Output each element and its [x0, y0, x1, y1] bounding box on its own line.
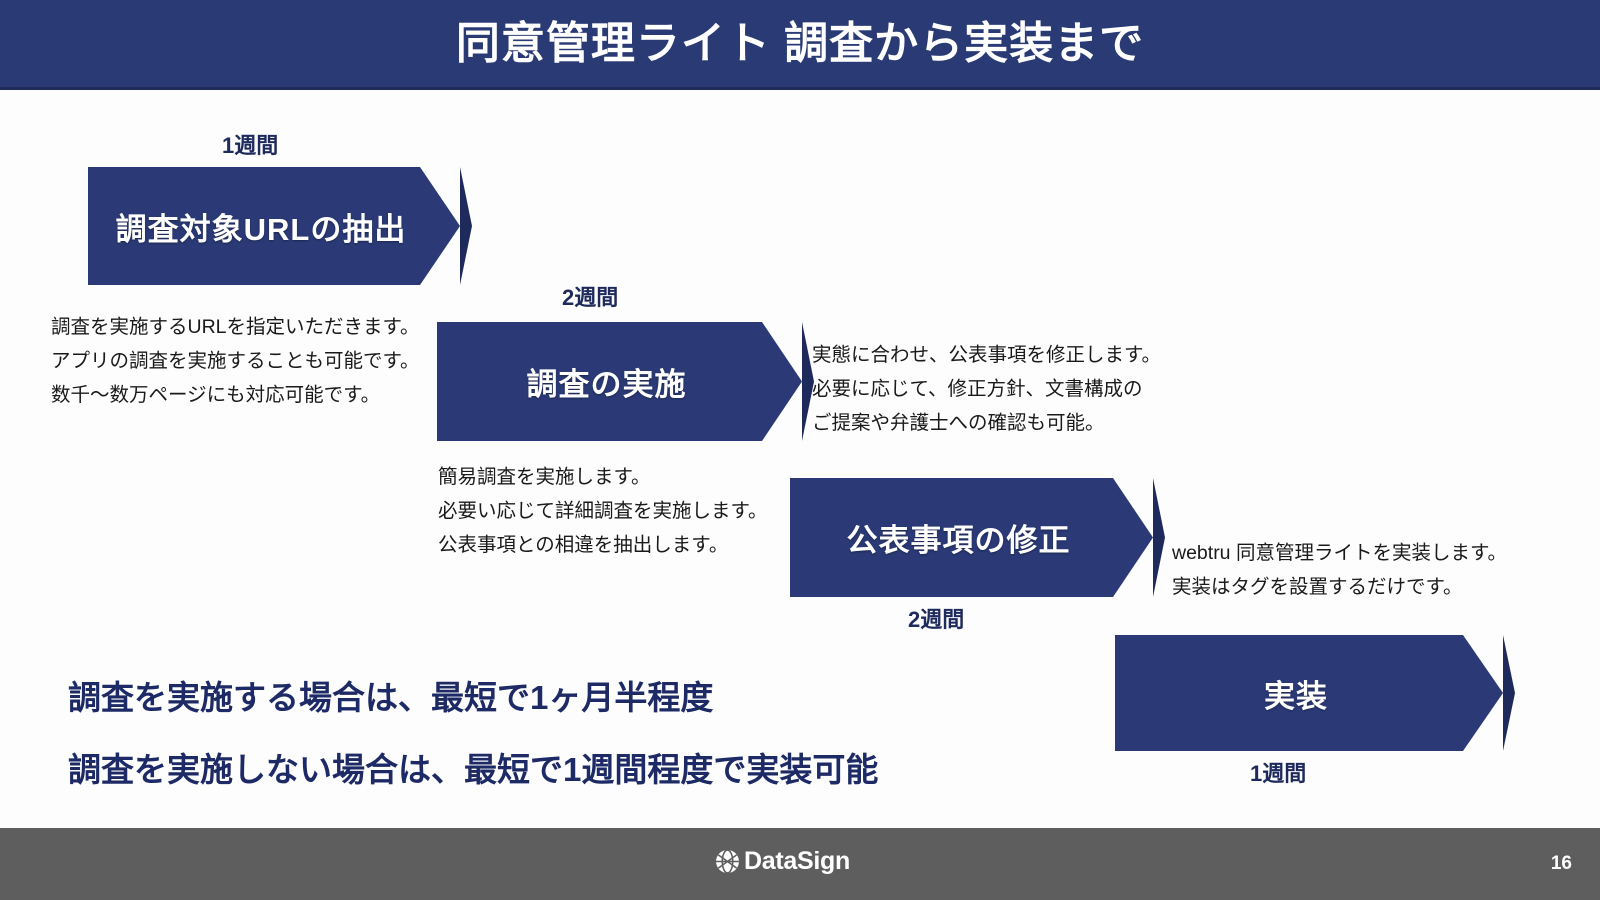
- description-line: 必要に応じて、修正方針、文書構成の: [812, 372, 1161, 406]
- brand-name: DataSign: [744, 847, 850, 876]
- description-step-1: 調査を実施するURLを指定いただきます。 アプリの調査を実施することも可能です。…: [51, 310, 420, 412]
- process-arrow-step-4[interactable]: 実装: [1115, 635, 1503, 751]
- slide-header-bar: 同意管理ライト 調査から実装まで: [0, 0, 1600, 90]
- process-arrow-label-step-1: 調査対象URLの抽出: [116, 204, 433, 249]
- description-line: 公表事項との相違を抽出します。: [438, 528, 768, 562]
- description-line: 実装はタグを設置するだけです。: [1172, 570, 1507, 604]
- process-arrow-step-3[interactable]: 公表事項の修正: [790, 478, 1153, 597]
- description-line: 簡易調査を実施します。: [438, 460, 768, 494]
- description-line: 実態に合わせ、公表事項を修正します。: [812, 338, 1161, 372]
- process-arrow-step-1[interactable]: 調査対象URLの抽出: [88, 167, 460, 285]
- description-line: ご提案や弁護士への確認も可能。: [812, 406, 1161, 440]
- process-arrow-label-step-2: 調査の実施: [527, 359, 713, 404]
- summary-line: 調査を実施する場合は、最短で1ヶ月半程度: [68, 662, 878, 734]
- arrow-shadow-step-1: [460, 167, 472, 285]
- slide-footer-bar: DataSign 16: [0, 828, 1600, 900]
- arrow-shadow-step-4: [1503, 635, 1515, 751]
- description-line: webtru 同意管理ライトを実装します。: [1172, 536, 1507, 570]
- summary-line: 調査を実施しない場合は、最短で1週間程度で実装可能: [68, 734, 878, 806]
- page-title: 同意管理ライト 調査から実装まで: [0, 0, 1600, 87]
- process-arrow-label-step-3: 公表事項の修正: [847, 515, 1097, 560]
- process-arrow-label-step-4: 実装: [1264, 671, 1354, 716]
- summary-text: 調査を実施する場合は、最短で1ヶ月半程度 調査を実施しない場合は、最短で1週間程…: [68, 662, 878, 806]
- arrow-shadow-step-3: [1153, 478, 1165, 597]
- slide: 同意管理ライト 調査から実装まで 1週間 調査対象URLの抽出 調査を実施するU…: [0, 0, 1600, 900]
- process-arrow-step-2[interactable]: 調査の実施: [437, 322, 802, 441]
- description-step-3: 簡易調査を実施します。 必要い応じて詳細調査を実施します。 公表事項との相違を抽…: [438, 460, 768, 562]
- duration-label-step-3: 2週間: [908, 602, 964, 634]
- description-step-2: 実態に合わせ、公表事項を修正します。 必要に応じて、修正方針、文書構成の ご提案…: [812, 338, 1161, 440]
- globe-icon: [715, 849, 740, 874]
- description-step-4: webtru 同意管理ライトを実装します。 実装はタグを設置するだけです。: [1172, 536, 1507, 604]
- brand-logo: DataSign: [715, 847, 850, 876]
- description-line: 調査を実施するURLを指定いただきます。: [51, 310, 420, 344]
- description-line: 数千〜数万ページにも対応可能です。: [51, 378, 420, 412]
- page-number: 16: [1551, 853, 1572, 875]
- duration-label-step-1: 1週間: [222, 128, 278, 160]
- duration-label-step-2: 2週間: [562, 280, 618, 312]
- duration-label-step-4: 1週間: [1250, 756, 1306, 788]
- description-line: 必要い応じて詳細調査を実施します。: [438, 494, 768, 528]
- description-line: アプリの調査を実施することも可能です。: [51, 344, 420, 378]
